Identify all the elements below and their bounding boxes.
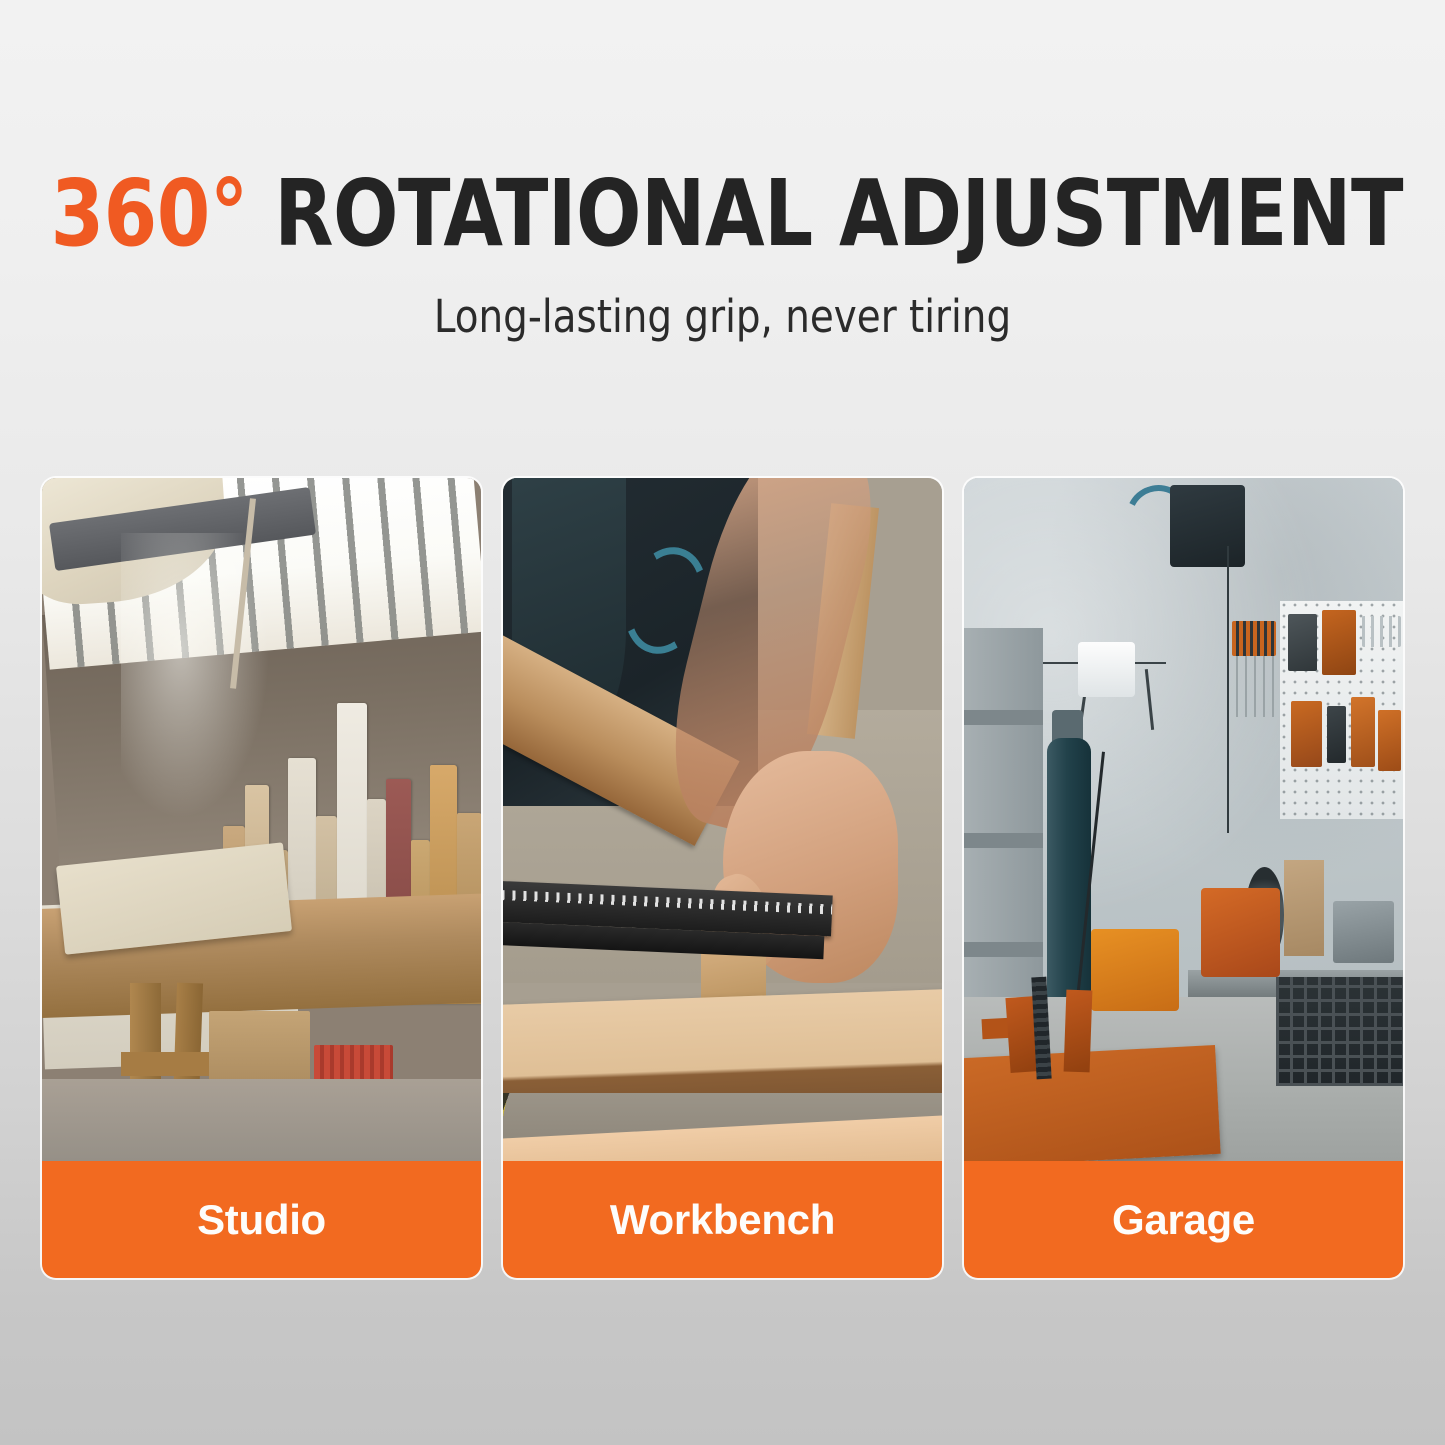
jig-post-right <box>1064 990 1093 1073</box>
shelf-level-2 <box>964 833 1043 848</box>
gas-cylinder <box>1047 738 1091 1025</box>
caption-bar-workbench: Workbench <box>503 1161 942 1278</box>
headline-main-text: ROTATIONAL ADJUSTMENT <box>248 160 1403 267</box>
caption-label-garage: Garage <box>1112 1196 1255 1244</box>
wall-mounted-unit <box>1170 485 1245 567</box>
shelf-level-1 <box>964 710 1043 725</box>
black-storage-crates <box>1276 977 1403 1086</box>
bench-vise <box>1333 901 1394 962</box>
page-title: 360° ROTATIONAL ADJUSTMENT <box>51 168 1395 260</box>
bench-crossbar <box>121 1052 218 1076</box>
feature-card-row: Studio Workbench <box>42 478 1403 1278</box>
header-block: 360° ROTATIONAL ADJUSTMENT Long-lasting … <box>0 0 1445 343</box>
caption-label-studio: Studio <box>197 1196 326 1244</box>
workbench-photo <box>503 478 942 1161</box>
orange-lift-table <box>964 1045 1221 1161</box>
caption-label-workbench: Workbench <box>610 1196 835 1244</box>
welding-machine <box>1091 929 1179 1011</box>
concrete-floor <box>42 1079 481 1161</box>
feature-card-workbench[interactable]: Workbench <box>503 478 942 1278</box>
studio-photo <box>42 478 481 1161</box>
page-subtitle: Long-lasting grip, never tiring <box>29 290 1416 343</box>
caption-bar-studio: Studio <box>42 1161 481 1278</box>
hanging-cord <box>1227 546 1229 833</box>
caption-bar-garage: Garage <box>964 1161 1403 1278</box>
pegboard <box>1280 601 1403 820</box>
bench-grinder <box>1201 888 1280 977</box>
feature-card-garage[interactable]: Garage <box>964 478 1403 1278</box>
headline-accent-text: 360° <box>51 160 248 267</box>
screwdriver-shafts <box>1236 656 1276 717</box>
screwdriver-rack <box>1232 621 1276 655</box>
paper-towel-roll <box>1078 642 1135 697</box>
feature-card-studio[interactable]: Studio <box>42 478 481 1278</box>
garage-photo <box>964 478 1403 1161</box>
shelf-level-3 <box>964 942 1043 957</box>
paper-bag <box>1284 860 1324 956</box>
